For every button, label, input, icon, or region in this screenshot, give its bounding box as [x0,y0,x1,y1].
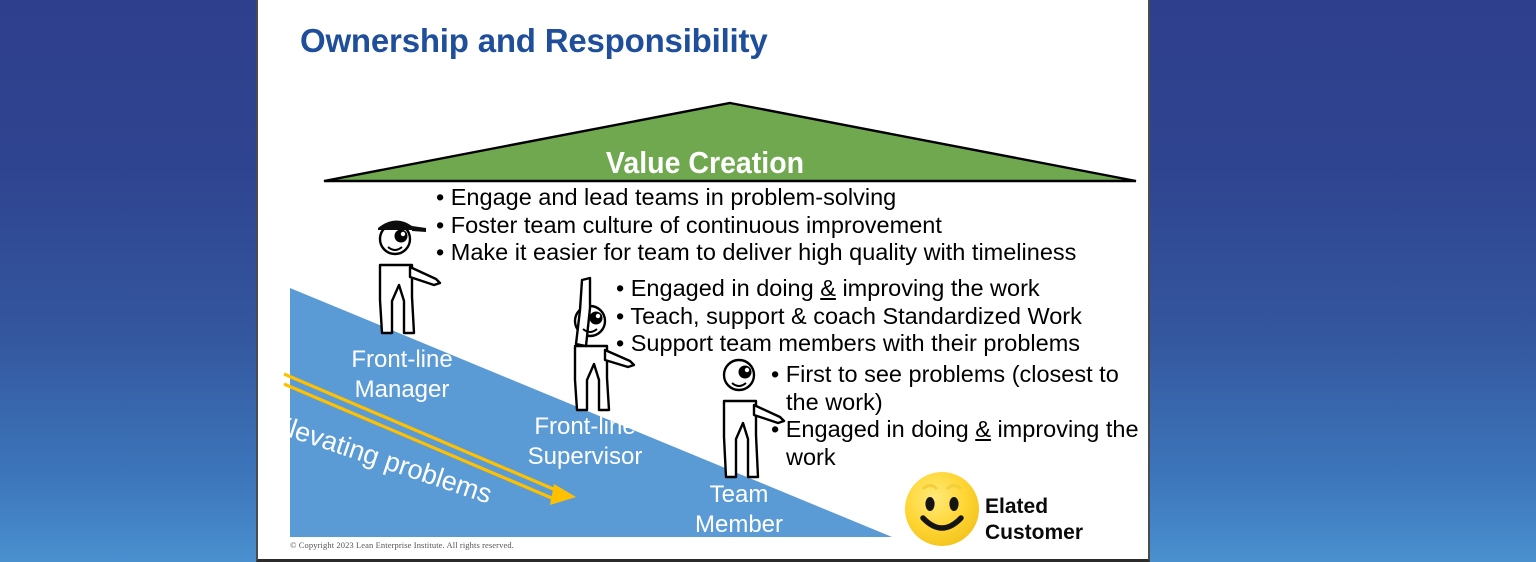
team-member-label: Team Member [668,480,810,540]
elated-customer-group: Elated Customer [903,470,1143,556]
page-title: Ownership and Responsibility [300,22,767,60]
role-label-line1: Front-line [506,412,664,442]
team-member-bullets: • First to see problems (closest to the … [771,361,1141,472]
role-label-line2: Supervisor [506,442,664,472]
elated-label-line1: Elated [985,494,1083,520]
smiley-face-icon [903,470,981,548]
elated-label-line2: Customer [985,520,1083,546]
role-label-line2: Member [668,510,810,540]
slide-canvas: Ownership and Responsibility Value Creat… [0,0,1536,562]
bullet-item: • Make it easier for team to deliver hig… [436,239,1076,267]
front-line-manager-figure [368,205,446,335]
elevating-problems-label: Elevating problems [268,408,543,526]
bullet-item: • Teach, support & coach Standardized Wo… [616,303,1082,331]
bullet-item: • Engaged in doing & improving the work [616,275,1082,303]
role-label-line1: Front-line [324,345,480,375]
role-label-line2: Manager [324,375,480,405]
front-line-manager-label: Front-line Manager [324,345,480,405]
pyramid-label: Value Creation [294,145,1116,181]
bullet-item: • Support team members with their proble… [616,330,1082,358]
bullet-item: • First to see problems (closest to the … [771,361,1141,416]
elated-customer-label: Elated Customer [985,494,1083,547]
role-label-line1: Team [668,480,810,510]
bullet-item: • Engaged in doing & improving the work [771,416,1141,471]
copyright-notice: © Copyright 2023 Lean Enterprise Institu… [290,540,514,550]
front-line-supervisor-label: Front-line Supervisor [506,412,664,472]
front-line-supervisor-bullets: • Engaged in doing & improving the work … [616,275,1082,358]
bullet-item: • Foster team culture of continuous impr… [436,212,1076,240]
presentation-slide: Ownership and Responsibility Value Creat… [256,0,1150,562]
front-line-manager-bullets: • Engage and lead teams in problem-solvi… [436,184,1076,267]
bullet-item: • Engage and lead teams in problem-solvi… [436,184,1076,212]
